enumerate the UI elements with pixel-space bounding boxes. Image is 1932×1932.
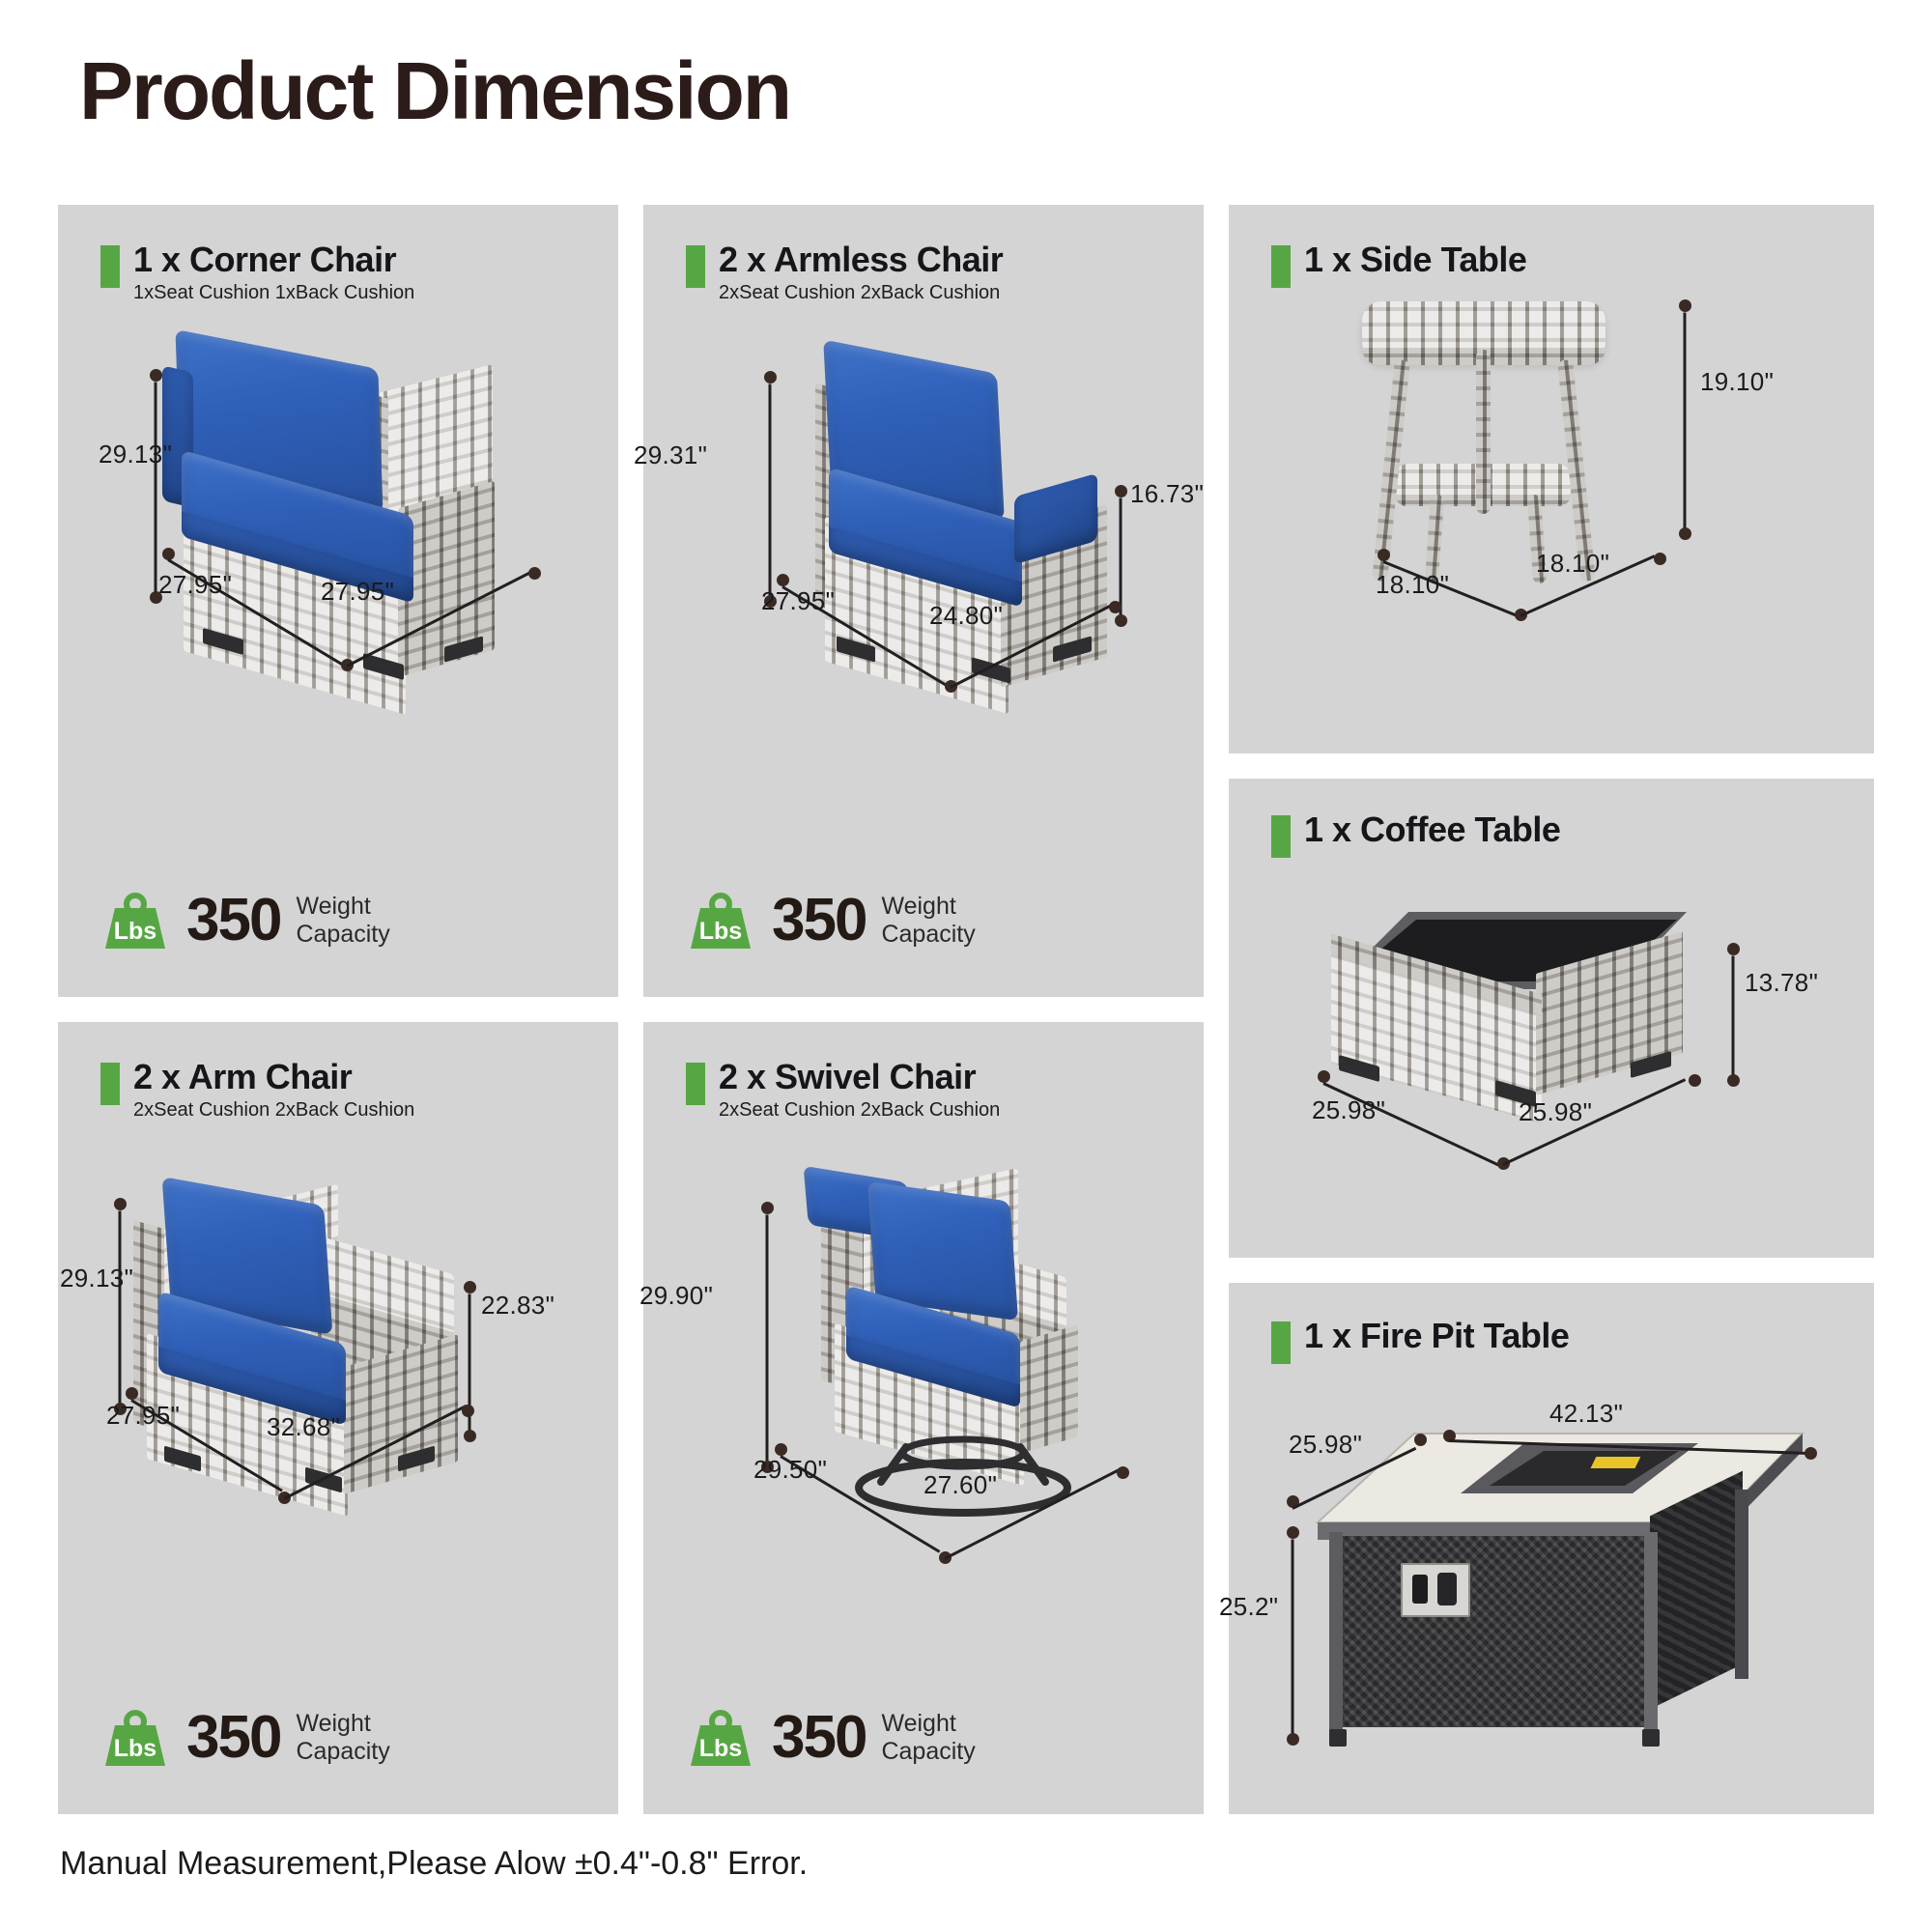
weight-icon: Lbs xyxy=(687,889,754,952)
weight-capacity-badge: Lbs 350 Weight Capacity xyxy=(687,1706,976,1770)
weight-value: 350 xyxy=(772,891,866,951)
weight-capacity-badge: Lbs 350 Weight Capacity xyxy=(101,889,390,952)
weight-icon: Lbs xyxy=(687,1706,754,1770)
dim-label-depth: 29.50" xyxy=(753,1455,827,1485)
dim-dot xyxy=(464,1281,476,1293)
dim-dot xyxy=(1109,601,1122,613)
panel-swivel-chair: 2 x Swivel Chair 2xSeat Cushion 2xBack C… xyxy=(643,1022,1204,1814)
dim-label-depth: 27.95" xyxy=(158,570,232,600)
dim-label-depth: 25.98" xyxy=(1312,1095,1385,1125)
dim-dot xyxy=(1727,943,1740,955)
weight-caption-line1: Weight xyxy=(296,1710,389,1738)
dim-line-arm-height xyxy=(469,1294,471,1439)
measurement-disclaimer: Manual Measurement,Please Alow ±0.4"-0.8… xyxy=(60,1845,808,1883)
weight-value: 350 xyxy=(186,891,280,951)
weight-icon: Lbs xyxy=(101,1706,169,1770)
dim-dot xyxy=(1804,1447,1817,1460)
dim-dot xyxy=(528,567,541,580)
dim-label-seat-height: 16.73" xyxy=(1130,479,1204,509)
weight-value: 350 xyxy=(772,1708,866,1768)
dim-label-height: 25.2" xyxy=(1219,1592,1278,1622)
swivel-chair-illustration xyxy=(643,1022,1204,1814)
weight-caption-line2: Capacity xyxy=(296,921,389,949)
dim-dot xyxy=(150,369,162,382)
svg-text:Lbs: Lbs xyxy=(699,918,742,945)
dim-label-height: 29.90" xyxy=(639,1281,713,1311)
weight-caption-line1: Weight xyxy=(881,893,975,921)
panel-corner-chair: 1 x Corner Chair 1xSeat Cushion 1xBack C… xyxy=(58,205,618,997)
dim-dot xyxy=(777,574,789,586)
weight-caption: Weight Capacity xyxy=(296,1710,389,1766)
dim-label-width: 18.10" xyxy=(1376,570,1449,600)
dim-label-height: 19.10" xyxy=(1700,367,1774,397)
dim-line-height xyxy=(1684,313,1687,537)
dim-label-width: 24.80" xyxy=(929,601,1003,631)
dim-label-depth: 18.10" xyxy=(1536,549,1609,579)
dim-dot xyxy=(462,1405,474,1417)
weight-caption-line2: Capacity xyxy=(296,1738,389,1766)
dim-label-width: 25.98" xyxy=(1519,1097,1592,1127)
weight-capacity-badge: Lbs 350 Weight Capacity xyxy=(101,1706,390,1770)
dim-line-height xyxy=(769,384,772,605)
dim-label-width: 42.13" xyxy=(1549,1399,1623,1429)
panel-coffee-table: 1 x Coffee Table 13.78" xyxy=(1229,779,1874,1258)
dim-dot xyxy=(1689,1074,1701,1087)
dim-dot xyxy=(1117,1466,1129,1479)
dim-dot xyxy=(1679,299,1691,312)
page-title: Product Dimension xyxy=(79,50,790,131)
dim-dot xyxy=(1287,1526,1299,1539)
dim-line-height xyxy=(155,383,157,601)
side-table-illustration xyxy=(1229,205,1874,753)
weight-caption-line1: Weight xyxy=(881,1710,975,1738)
panel-fire-pit-table: 1 x Fire Pit Table xyxy=(1229,1283,1874,1814)
svg-text:Lbs: Lbs xyxy=(114,918,156,945)
weight-value: 350 xyxy=(186,1708,280,1768)
weight-caption-line2: Capacity xyxy=(881,921,975,949)
weight-capacity-badge: Lbs 350 Weight Capacity xyxy=(687,889,976,952)
dim-dot xyxy=(1287,1733,1299,1746)
coffee-table-illustration xyxy=(1229,779,1874,1258)
product-dimension-infographic: Product Dimension 1 x Corner Chair 1xSea… xyxy=(0,0,1932,1932)
weight-caption: Weight Capacity xyxy=(881,1710,975,1766)
weight-caption-line2: Capacity xyxy=(881,1738,975,1766)
dim-label-height: 29.31" xyxy=(634,440,707,470)
dim-label-height: 29.13" xyxy=(99,440,172,469)
dim-dot xyxy=(1414,1434,1427,1446)
dim-label-arm-height: 22.83" xyxy=(481,1291,554,1321)
fire-pit-table-illustration xyxy=(1229,1283,1874,1814)
weight-caption: Weight Capacity xyxy=(881,893,975,949)
dim-label-depth: 27.95" xyxy=(761,586,835,616)
dim-label-width: 27.60" xyxy=(923,1470,997,1500)
dim-dot xyxy=(1115,614,1127,627)
panel-side-table: 1 x Side Table 19.10" 18.10" xyxy=(1229,205,1874,753)
dim-label-width: 27.95" xyxy=(321,577,394,607)
dim-dot xyxy=(1727,1074,1740,1087)
dim-dot xyxy=(764,371,777,384)
dim-dot xyxy=(114,1198,127,1210)
dim-dot xyxy=(464,1430,476,1442)
dim-dot xyxy=(1115,485,1127,497)
dim-label-depth: 27.95" xyxy=(106,1401,180,1431)
weight-caption-line1: Weight xyxy=(296,893,389,921)
svg-text:Lbs: Lbs xyxy=(114,1735,156,1762)
dim-label-depth: 25.98" xyxy=(1289,1430,1362,1460)
dim-line-height xyxy=(1732,956,1735,1084)
dim-dot xyxy=(1679,527,1691,540)
dim-label-height: 13.78" xyxy=(1745,968,1818,998)
dim-dot xyxy=(126,1387,138,1400)
dim-label-width: 32.68" xyxy=(267,1412,340,1442)
dim-line-height xyxy=(119,1211,122,1412)
weight-caption: Weight Capacity xyxy=(296,893,389,949)
dim-dot xyxy=(1378,549,1390,561)
panel-armless-chair: 2 x Armless Chair 2xSeat Cushion 2xBack … xyxy=(643,205,1204,997)
dim-line-height xyxy=(766,1215,769,1470)
panel-arm-chair: 2 x Arm Chair 2xSeat Cushion 2xBack Cush… xyxy=(58,1022,618,1814)
dim-label-height: 29.13" xyxy=(60,1264,133,1293)
dim-dot xyxy=(1318,1070,1330,1083)
dim-dot xyxy=(761,1202,774,1214)
weight-icon: Lbs xyxy=(101,889,169,952)
svg-text:Lbs: Lbs xyxy=(699,1735,742,1762)
dim-dot xyxy=(1654,553,1666,565)
dim-line-height xyxy=(1292,1540,1294,1743)
